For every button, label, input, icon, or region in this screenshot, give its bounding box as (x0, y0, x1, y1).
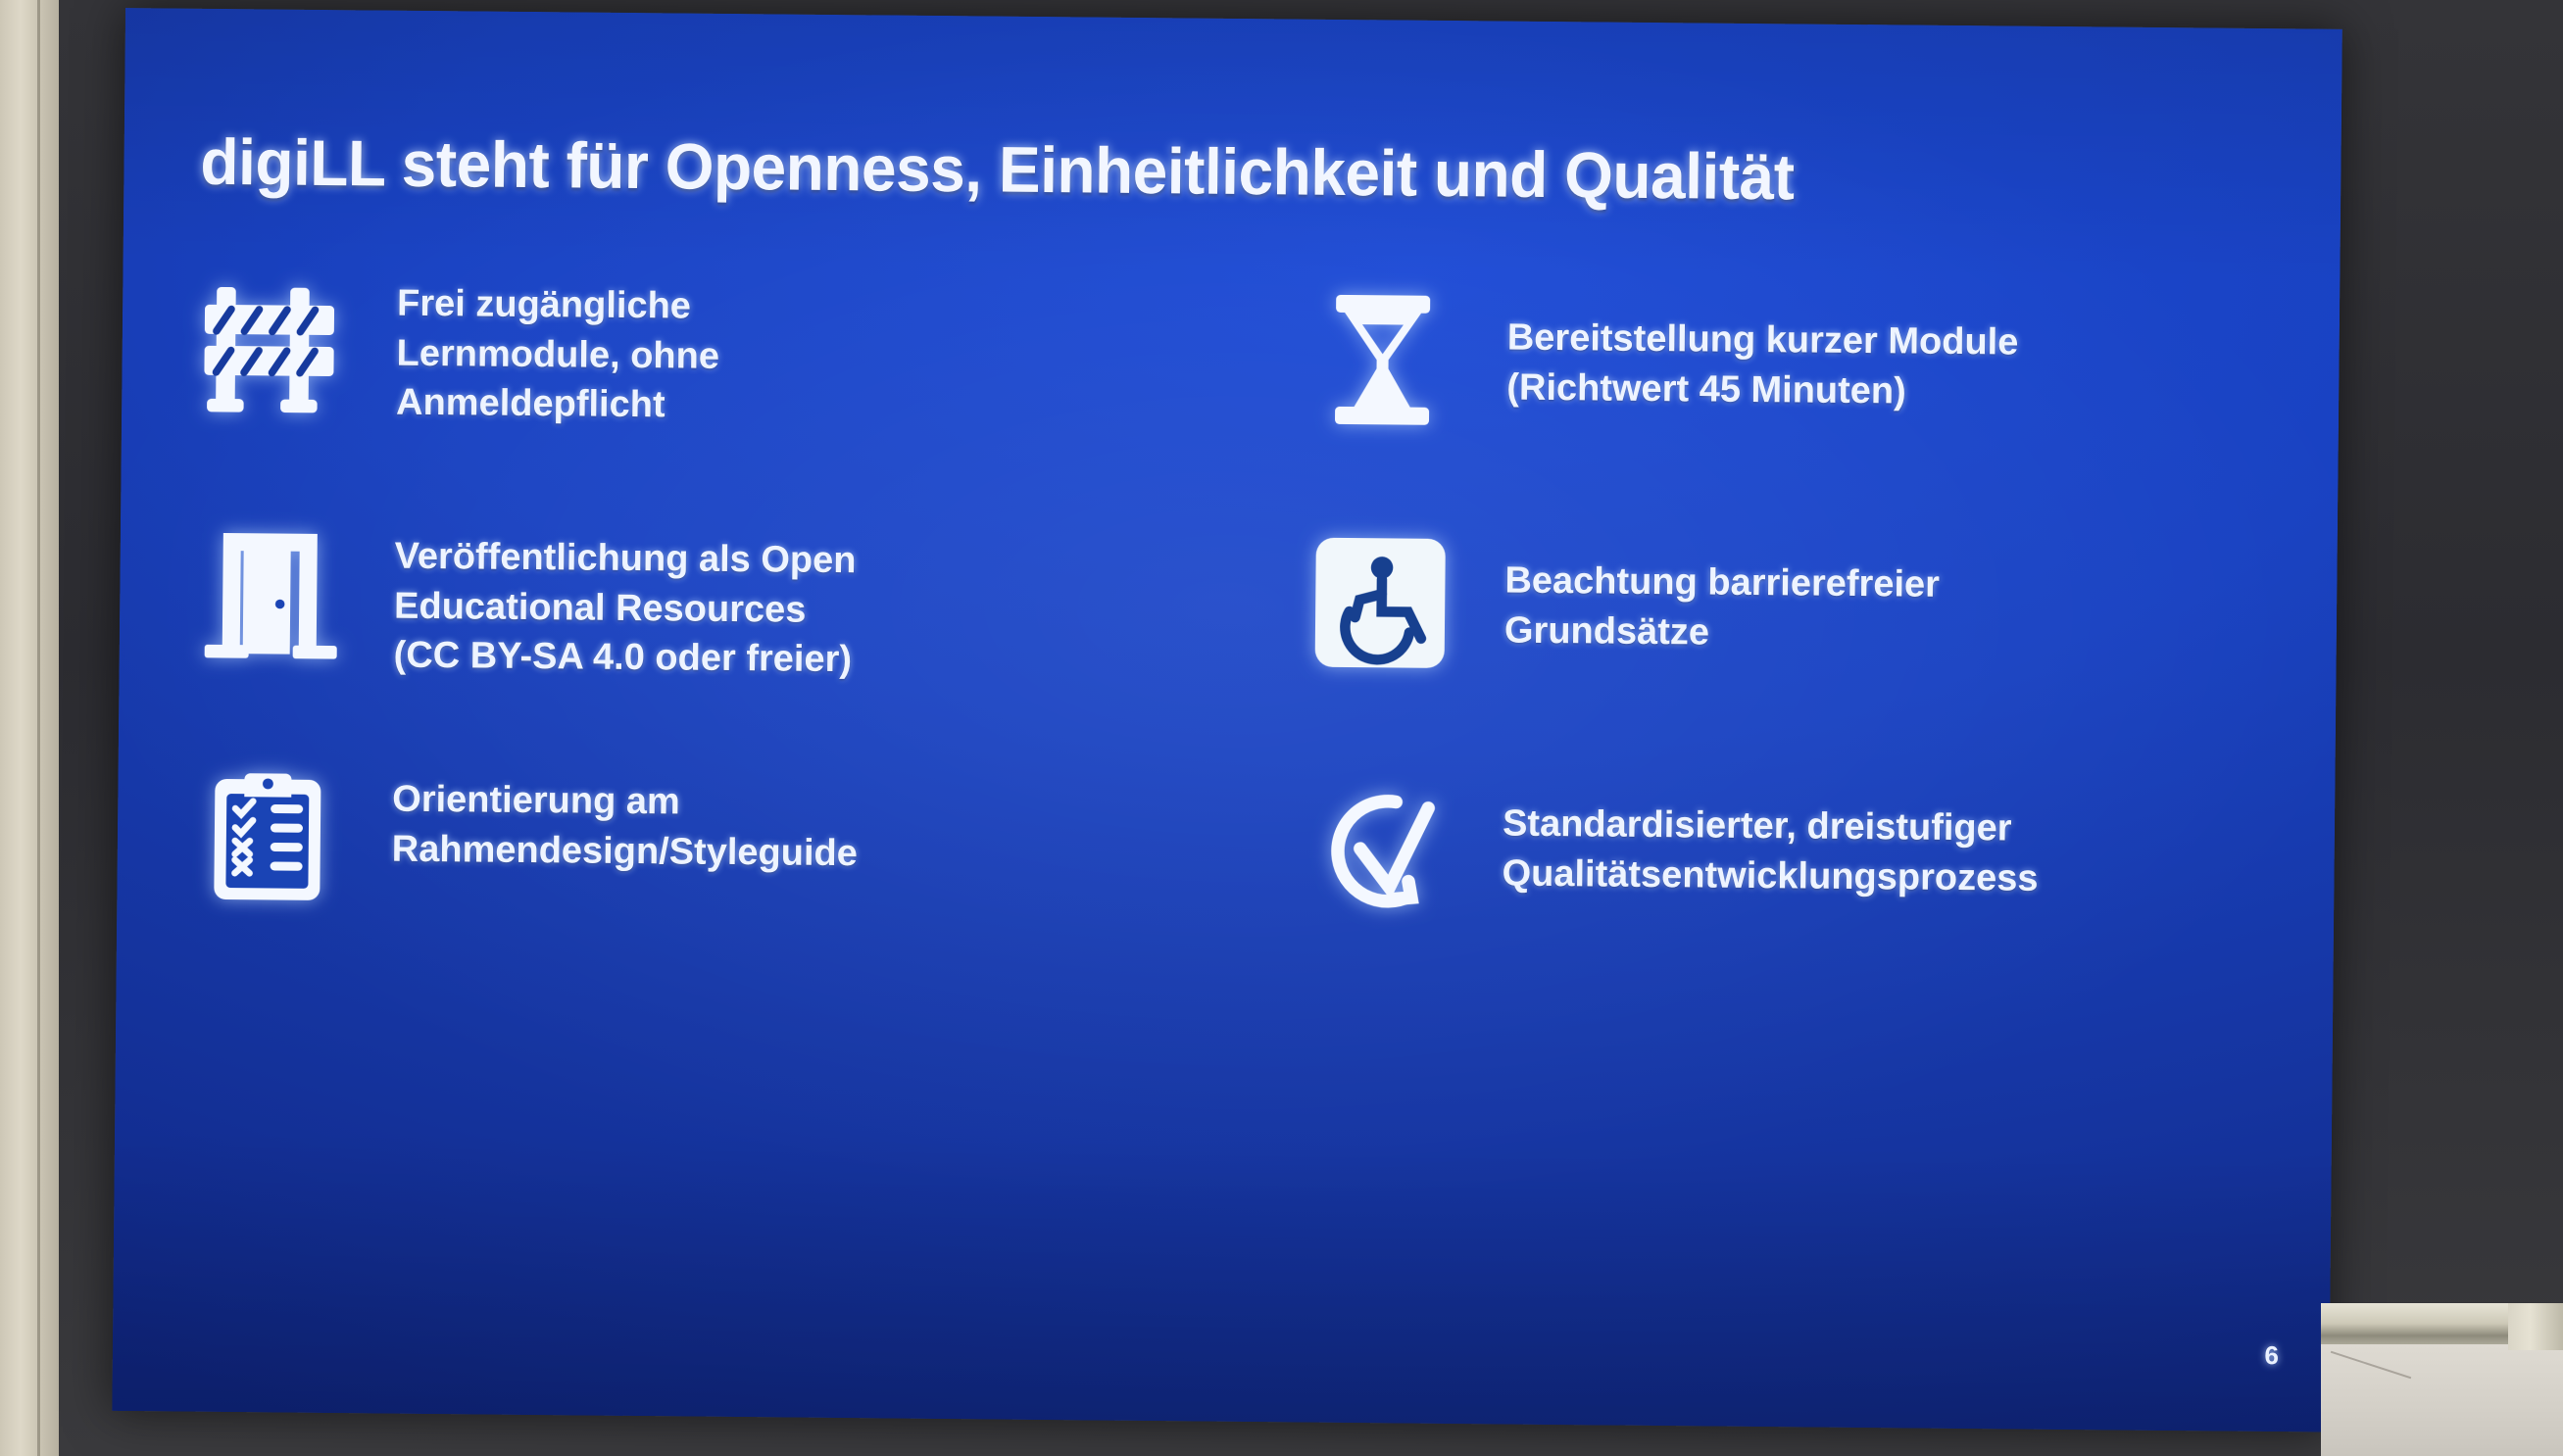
flipchart-post (2508, 1303, 2563, 1350)
open-door-icon (196, 518, 344, 666)
hourglass-icon (1308, 286, 1456, 434)
feature-item-label: Beachtung barrierefreier Grundsätze (1504, 527, 1941, 659)
feature-item-label: Orientierung am Rahmendesign/Styleguide (392, 759, 859, 879)
feature-item-hourglass: Bereitstellung kurzer Module (Richtwert … (1251, 281, 2263, 534)
barrier-icon (198, 275, 346, 423)
feature-item-quality-cycle: Standardisierter, dreistufiger Qualitäts… (1246, 767, 2258, 1020)
feature-item-open-door: Veröffentlichung als Open Educational Re… (195, 514, 1208, 767)
flipchart-occluder (2321, 1303, 2563, 1456)
feature-item-barrier: Frei zugängliche Lernmodule, ohne Anmeld… (197, 271, 1209, 524)
feature-item-label: Frei zugängliche Lernmodule, ohne Anmeld… (396, 273, 720, 431)
feature-item-checklist: Orientierung am Rahmendesign/Styleguide (192, 757, 1205, 1010)
slide-title: digiLL steht für Openness, Einheitlichke… (200, 124, 2202, 218)
feature-item-label: Bereitstellung kurzer Module (Richtwert … (1506, 284, 2019, 417)
room-photo-scene: digiLL steht für Openness, Einheitlichke… (0, 0, 2563, 1456)
clipboard-checklist-icon (193, 761, 341, 909)
slide-page-number: 6 (2264, 1340, 2279, 1371)
wall-strip (0, 0, 59, 1456)
feature-item-label: Veröffentlichung als Open Educational Re… (393, 516, 856, 685)
feature-item-accessibility: Beachtung barrierefreier Grundsätze (1249, 524, 2261, 777)
wheelchair-accessibility-icon (1306, 529, 1454, 677)
feature-item-label: Standardisierter, dreistufiger Qualitäts… (1502, 770, 2039, 903)
cycle-check-icon (1304, 772, 1452, 920)
wall-seam (37, 0, 40, 1456)
feature-grid: Frei zugängliche Lernmodule, ohne Anmeld… (192, 271, 2263, 1020)
presentation-slide: digiLL steht für Openness, Einheitlichke… (112, 8, 2342, 1432)
